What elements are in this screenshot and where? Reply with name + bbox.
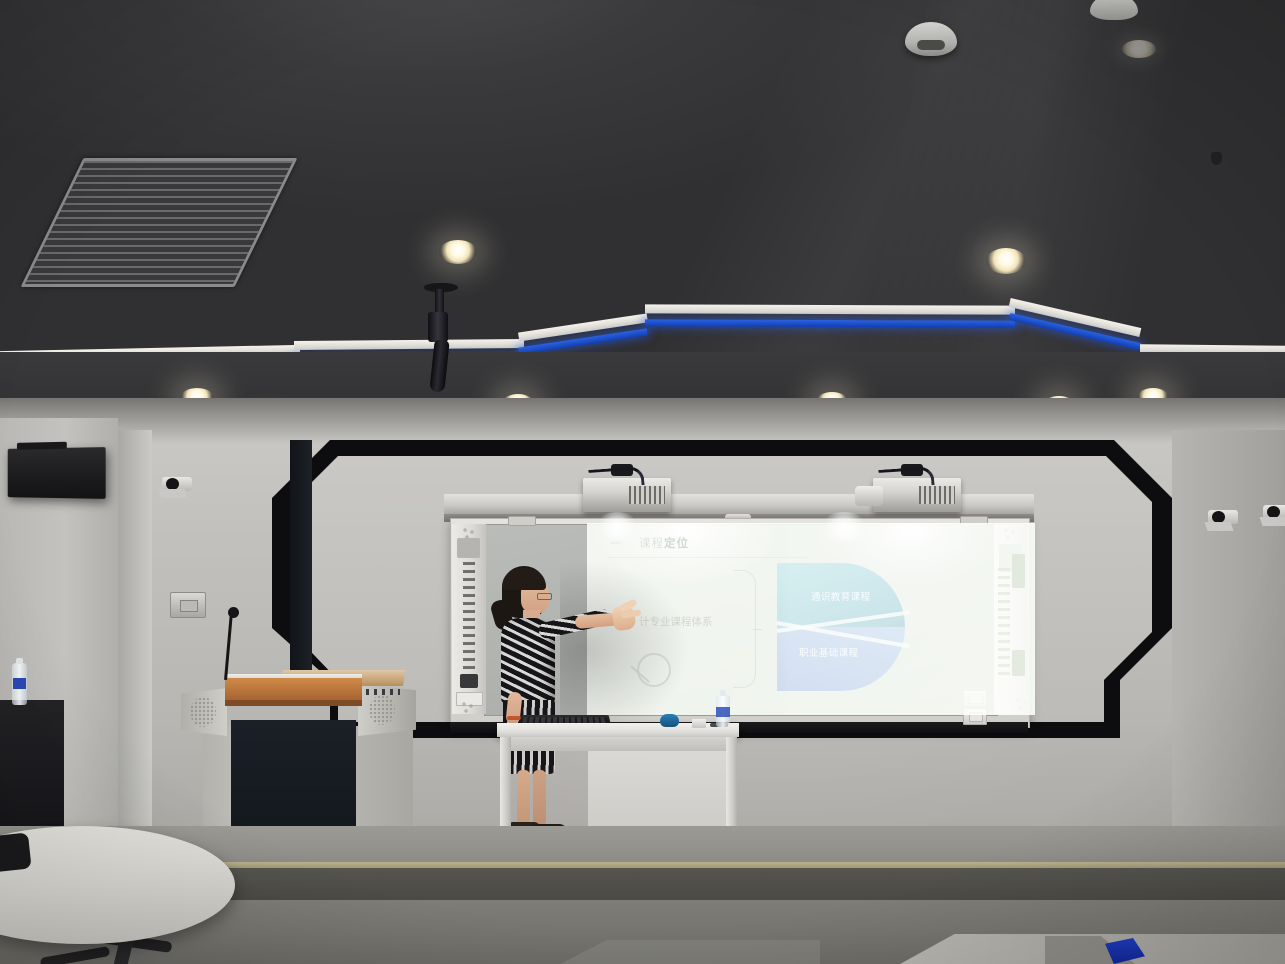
classroom-scene: 一 课程定位 计专业课程体系 通识教育课程 职业基础课程 (0, 0, 1285, 964)
wall-camera-icon (162, 477, 192, 491)
left-wall-corner (118, 430, 152, 840)
projector-vents (919, 486, 955, 504)
camera-mount-arm (159, 489, 188, 498)
presenter-glasses-icon (537, 593, 552, 600)
sprinkler-icon (1211, 152, 1222, 165)
microphone-joint (428, 312, 448, 342)
remote-control[interactable] (692, 719, 706, 728)
camera-mount-arm (1205, 522, 1234, 531)
ceiling-downlight (986, 248, 1026, 274)
presenter-bracelet (507, 716, 521, 720)
slide-title-part2: 定位 (664, 538, 689, 550)
wall-camera-icon-right-2 (1263, 505, 1285, 519)
instructor-desk-apron (500, 737, 736, 751)
decor-flower-icon (460, 700, 476, 714)
projector-vents (629, 486, 665, 504)
board-top-clip (508, 516, 536, 526)
wall-speaker-icon (8, 447, 106, 499)
slide-left-label: 计专业课程体系 (639, 615, 725, 629)
curly-brace-icon (733, 570, 756, 688)
smoke-detector-icon (905, 22, 957, 56)
lectern-status-leds (366, 689, 400, 695)
gooseneck-microphone-icon (228, 607, 239, 618)
water-bottle-icon-desk (716, 695, 730, 727)
pie-label-general-education: 通识教育课程 (811, 589, 870, 603)
magnifier-icon (637, 653, 671, 687)
slide-title-rule (607, 557, 807, 558)
wall-camera-icon-right-1 (1208, 510, 1238, 524)
pie-slice-vocational-foundation (777, 627, 905, 691)
dark-wall-column (290, 440, 312, 680)
side-cabinet (0, 700, 64, 838)
lectern-speaker-grille-icon (369, 695, 395, 725)
wall-plate[interactable] (170, 592, 206, 618)
slide-title-prefix: 一 (610, 535, 622, 551)
slide-title-part1: 课程 (639, 538, 664, 550)
right-wall-section (1172, 430, 1285, 830)
ceiling-downlight (439, 240, 477, 264)
toolbar-slot (457, 538, 480, 558)
whiteboard-toolbar-left[interactable] (452, 524, 486, 714)
mouse[interactable] (660, 714, 679, 727)
ceiling-downlight (1122, 40, 1156, 58)
projector-left (583, 478, 671, 512)
toolbar-port[interactable] (460, 674, 478, 688)
lectern-speaker-left (181, 688, 227, 736)
wall-top-shadow (0, 398, 1285, 444)
presenter-leg-right (533, 770, 546, 826)
lectern-wood-panel (225, 678, 362, 700)
pie-chart: 通识教育课程 职业基础课程 (777, 563, 907, 691)
projector-lens-icon (855, 486, 883, 506)
presenter-leg-left (517, 770, 530, 824)
water-bottle-icon-left (12, 663, 27, 705)
lectern-speaker-grille-icon (190, 697, 216, 727)
lectern-wood-lip (225, 700, 362, 706)
projected-slide: 一 课程定位 计专业课程体系 通识教育课程 职业基础课程 (587, 523, 1035, 715)
pie-label-vocational-foundation: 职业基础课程 (799, 645, 858, 659)
projector-right (873, 478, 961, 512)
smoke-detector-icon-2 (1090, 0, 1138, 20)
camera-mount-arm (1260, 517, 1285, 526)
slide-title: 一 课程定位 (610, 535, 689, 551)
toolbar-icon-strip[interactable] (463, 562, 475, 670)
